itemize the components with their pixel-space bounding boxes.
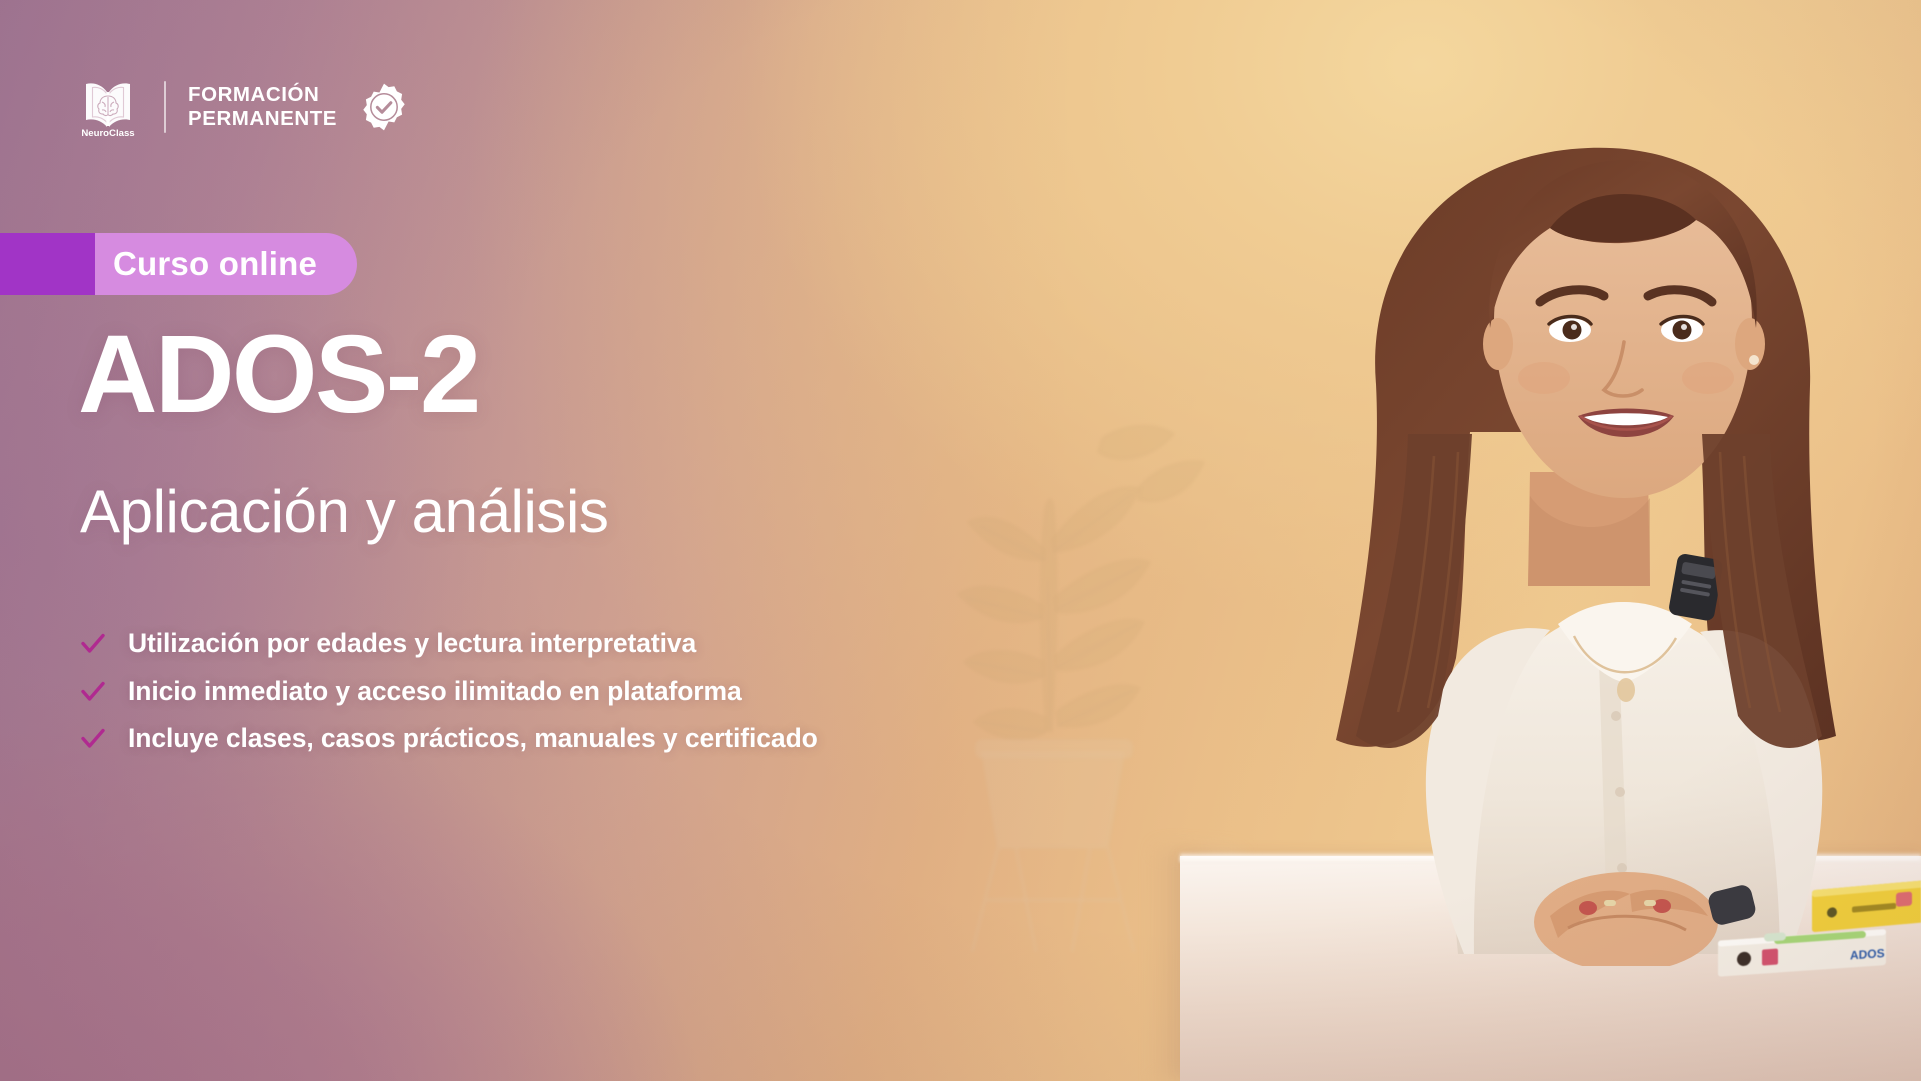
feature-label: Inicio inmediato y acceso ilimitado en p… — [128, 678, 742, 705]
feature-label: Incluye clases, casos prácticos, manuale… — [128, 725, 818, 752]
check-icon — [80, 678, 106, 704]
open-book-brain-icon: NeuroClass — [76, 76, 140, 138]
course-type-badge: Curso online — [0, 233, 357, 295]
check-icon — [80, 725, 106, 751]
course-subtitle: Aplicación y análisis — [80, 482, 609, 542]
brand-header: NeuroClass FORMACIÓN PERMANENTE — [76, 76, 409, 138]
brand-tagline: FORMACIÓN PERMANENTE — [188, 83, 337, 131]
feature-label: Utilización por edades y lectura interpr… — [128, 630, 696, 657]
feature-item: Utilización por edades y lectura interpr… — [80, 630, 818, 657]
badge-accent-block — [0, 233, 95, 295]
feature-item: Incluye clases, casos prácticos, manuale… — [80, 725, 818, 752]
course-promo-banner: ADOS — [0, 0, 1921, 1081]
course-title: ADOS-2 — [78, 320, 479, 430]
check-icon — [80, 630, 106, 656]
feature-item: Inicio inmediato y acceso ilimitado en p… — [80, 678, 818, 705]
certified-check-rosette-icon — [359, 82, 409, 132]
badge-body: Curso online — [95, 233, 357, 295]
feature-list: Utilización por edades y lectura interpr… — [80, 630, 818, 752]
brand-divider — [164, 81, 166, 133]
badge-label: Curso online — [113, 247, 317, 280]
neuroclass-wordmark: NeuroClass — [81, 128, 134, 138]
neuroclass-logo[interactable]: NeuroClass — [76, 76, 140, 138]
